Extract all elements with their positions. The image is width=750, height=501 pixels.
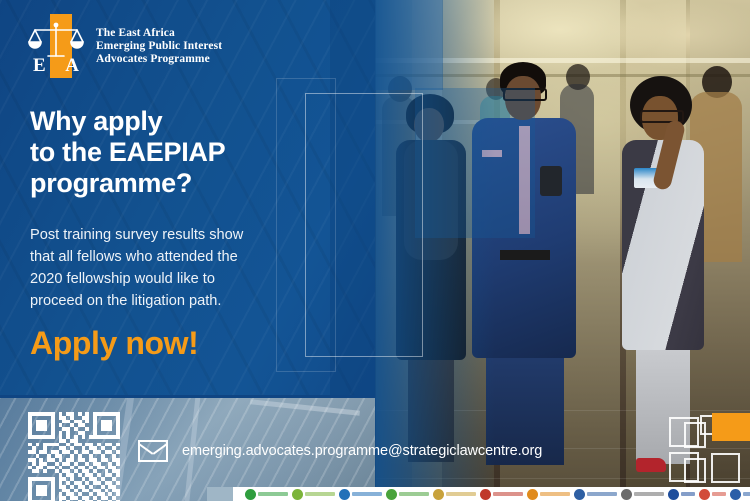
person-phone <box>540 166 562 196</box>
body-line-1: Post training survey results show <box>30 224 302 246</box>
blue-tint-block <box>415 88 535 238</box>
partner-logo-strip <box>233 487 750 501</box>
partner-logo-mark <box>668 489 679 500</box>
partner-logo-wordmark <box>493 492 523 496</box>
partner-logo-mark <box>574 489 585 500</box>
stair-railing <box>250 399 360 415</box>
blue-tint-block <box>375 0 443 90</box>
partner-logo-wordmark <box>399 492 429 496</box>
partner-logo-mark <box>621 489 632 500</box>
decorative-square-filled <box>712 413 750 441</box>
organisation-logo: E A The East Africa Emerging Public Inte… <box>28 14 222 78</box>
person-belt <box>500 250 550 260</box>
apply-now-cta[interactable]: Apply now! <box>30 325 198 362</box>
partner-logo-mark <box>386 489 397 500</box>
partner-logo-11 <box>699 489 726 500</box>
partner-strip-edge <box>207 487 233 501</box>
partner-logo-wordmark <box>540 492 570 496</box>
partner-logo-12 <box>730 489 750 500</box>
qr-code[interactable] <box>28 412 120 501</box>
partner-logo-6 <box>480 489 523 500</box>
partner-logo-mark <box>245 489 256 500</box>
partner-logo-8 <box>574 489 617 500</box>
headline-line-2: to the EAEPIAP <box>30 137 330 168</box>
body-line-4: proceed on the litigation path. <box>30 290 302 312</box>
partner-logo-mark <box>433 489 444 500</box>
partner-logo-3 <box>339 489 382 500</box>
decorative-square-outline <box>684 458 706 483</box>
partner-logo-wordmark <box>712 492 726 496</box>
partner-logo-mark <box>339 489 350 500</box>
logo-wordmark-line-1: The East Africa <box>96 27 222 40</box>
body-line-3: 2020 fellowship would like to <box>30 268 302 290</box>
partner-logo-mark <box>699 489 710 500</box>
headline: Why apply to the EAEPIAP programme? <box>30 106 330 199</box>
decorative-square-outline <box>711 453 740 483</box>
logo-wordmark-line-2: Emerging Public Interest <box>96 40 222 53</box>
partner-logo-wordmark <box>446 492 476 496</box>
partner-logo-mark <box>527 489 538 500</box>
logo-letter-e: E <box>33 55 46 77</box>
contact-email-text[interactable]: emerging.advocates.programme@strategicla… <box>182 443 542 459</box>
partner-logo-wordmark <box>634 492 664 496</box>
logo-letters: E A <box>28 54 84 78</box>
partner-logo-wordmark <box>743 492 750 496</box>
logo-wordmark-line-3: Advocates Programme <box>96 53 222 66</box>
headline-line-1: Why apply <box>30 106 330 137</box>
logo-letter-a: A <box>65 55 79 77</box>
partner-logo-5 <box>433 489 476 500</box>
body-copy: Post training survey results show that a… <box>30 224 302 312</box>
logo-mark: E A <box>28 14 84 78</box>
band-divider <box>0 395 375 398</box>
body-line-2: that all fellows who attended the <box>30 246 302 268</box>
logo-wordmark: The East Africa Emerging Public Interest… <box>96 27 222 66</box>
partner-logo-10 <box>668 489 695 500</box>
partner-logo-wordmark <box>305 492 335 496</box>
partner-logo-1 <box>245 489 288 500</box>
partner-logo-wordmark <box>587 492 617 496</box>
partner-logo-mark <box>480 489 491 500</box>
headline-line-3: programme? <box>30 168 330 199</box>
person-shoe <box>636 458 666 472</box>
promotional-poster: E A The East Africa Emerging Public Inte… <box>0 0 750 501</box>
partner-logo-mark <box>730 489 741 500</box>
partner-logo-mark <box>292 489 303 500</box>
partner-logo-4 <box>386 489 429 500</box>
envelope-icon <box>138 440 168 462</box>
partner-logo-wordmark <box>258 492 288 496</box>
partner-logo-9 <box>621 489 664 500</box>
contact-email-row[interactable]: emerging.advocates.programme@strategicla… <box>138 440 542 462</box>
partner-logo-wordmark <box>681 492 695 496</box>
partner-logo-wordmark <box>352 492 382 496</box>
partner-logo-2 <box>292 489 335 500</box>
partner-logo-7 <box>527 489 570 500</box>
